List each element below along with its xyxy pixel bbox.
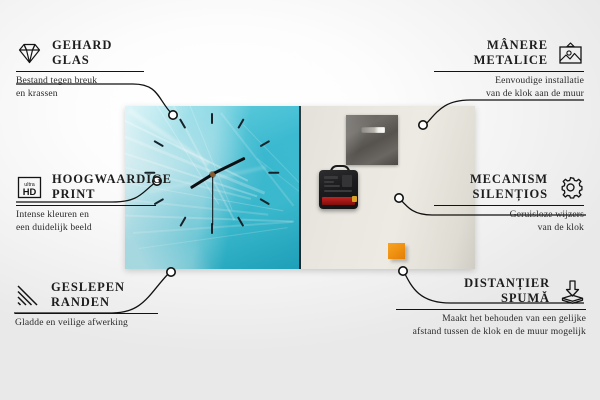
callout-rule xyxy=(434,71,584,72)
picture-frame-icon xyxy=(557,41,584,66)
callout-title-line: GEHARD xyxy=(52,38,112,53)
callout-desc-line: van de klok xyxy=(434,222,584,234)
svg-text:HD: HD xyxy=(23,186,37,197)
callout-title-line: SILENȚIOS xyxy=(434,187,548,202)
callout-desc-line: Maakt het behouden van een gelijke xyxy=(396,313,586,325)
callout-title-line: RANDEN xyxy=(51,295,125,310)
callout-rule xyxy=(434,205,584,206)
callout-distantier-spuma: DISTANȚIER SPUMĂ Maakt het behouden van … xyxy=(396,276,586,338)
callout-gehard-glas: GEHARD GLAS Bestand tegen breuk en krass… xyxy=(16,38,166,100)
gear-icon xyxy=(557,175,584,200)
leader-dot xyxy=(167,268,175,276)
battery xyxy=(322,197,355,205)
callout-mecanism-silentios: MECANISM SILENȚIOS Geruisloze wijzers va… xyxy=(434,172,584,234)
callout-rule xyxy=(15,313,158,314)
battery-terminal xyxy=(352,196,357,202)
metal-hanger xyxy=(346,115,398,165)
callout-manere-metalice: MÂNERE METALICE Eenvoudige installatie v… xyxy=(434,38,584,100)
callout-title-line: METALICE xyxy=(434,53,548,68)
callout-title-line: DISTANȚIER xyxy=(396,276,550,291)
callout-desc-line: en krassen xyxy=(16,88,166,100)
product-image xyxy=(125,106,475,269)
callout-desc-line: Bestand tegen breuk xyxy=(16,75,166,87)
ultra-hd-icon: ultra HD xyxy=(16,175,43,200)
callout-desc-line: afstand tussen de klok en de muur mogeli… xyxy=(396,326,586,338)
callout-title-line: HOOGWAARDIGE xyxy=(52,172,172,187)
callout-title-line: SPUMĂ xyxy=(396,291,550,306)
callout-title-line: GLAS xyxy=(52,53,112,68)
callout-desc-line: een duidelijk beeld xyxy=(16,222,176,234)
callout-title-line: MECANISM xyxy=(434,172,548,187)
foam-spacer xyxy=(388,243,405,259)
callout-desc-line: Eenvoudige installatie xyxy=(434,75,584,87)
hanger-slot xyxy=(361,127,385,133)
diamond-icon xyxy=(16,41,43,66)
spacer-arrow-icon xyxy=(559,279,586,304)
callout-rule xyxy=(16,71,144,72)
callout-desc-line: Gladde en veilige afwerking xyxy=(15,317,175,329)
callout-title-line: PRINT xyxy=(52,187,172,202)
callout-geslepen-randen: GESLEPEN RANDEN Gladde en veilige afwerk… xyxy=(15,280,175,330)
bevelled-edge-icon xyxy=(15,283,42,308)
callout-desc-line: Geruisloze wijzers xyxy=(434,209,584,221)
callout-title-line: MÂNERE xyxy=(434,38,548,53)
callout-hoogwaardige-print: ultra HD HOOGWAARDIGE PRINT Intense kleu… xyxy=(16,172,176,234)
callout-desc-line: van de klok aan de muur xyxy=(434,88,584,100)
callout-desc-line: Intense kleuren en xyxy=(16,209,176,221)
callout-title-line: GESLEPEN xyxy=(51,280,125,295)
callout-rule xyxy=(396,309,586,310)
infographic-canvas: GEHARD GLAS Bestand tegen breuk en krass… xyxy=(0,0,600,400)
callout-rule xyxy=(16,205,156,206)
